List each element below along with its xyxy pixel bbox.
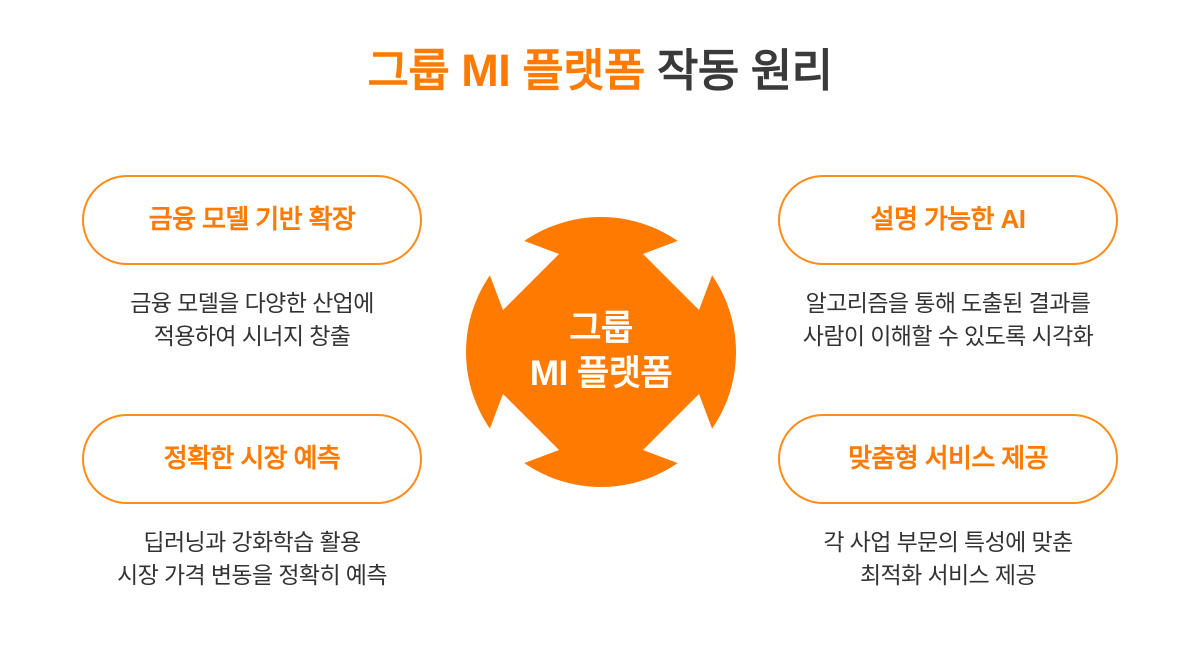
- quadrant-top-right: 설명 가능한 AI 알고리즘을 통해 도출된 결과를 사람이 이해할 수 있도록…: [778, 175, 1118, 354]
- description-bottom-right-line1: 각 사업 부문의 특성에 맞춘: [778, 526, 1118, 559]
- pill-badge-top-left[interactable]: 금융 모델 기반 확장: [82, 175, 422, 265]
- description-top-right: 알고리즘을 통해 도출된 결과를 사람이 이해할 수 있도록 시각화: [778, 287, 1118, 354]
- description-bottom-right: 각 사업 부문의 특성에 맞춘 최적화 서비스 제공: [778, 526, 1118, 593]
- description-top-left: 금융 모델을 다양한 산업에 적용하여 시너지 창출: [82, 287, 422, 354]
- description-bottom-left-line1: 딥러닝과 강화학습 활용: [82, 526, 422, 559]
- pill-label-top-right: 설명 가능한 AI: [871, 204, 1026, 235]
- description-top-right-line2: 사람이 이해할 수 있도록 시각화: [778, 320, 1118, 353]
- quadrant-bottom-right: 맞춤형 서비스 제공 각 사업 부문의 특성에 맞춘 최적화 서비스 제공: [778, 414, 1118, 593]
- quadrant-bottom-left: 정확한 시장 예측 딥러닝과 강화학습 활용 시장 가격 변동을 정확히 예측: [82, 414, 422, 593]
- pill-badge-top-right[interactable]: 설명 가능한 AI: [778, 175, 1118, 265]
- page-title-spacer: [645, 45, 657, 96]
- pill-label-top-left: 금융 모델 기반 확장: [149, 204, 355, 235]
- infographic-root: 그룹 MI 플랫폼 작동 원리 그룹 MI 플랫폼 금융 모델: [0, 0, 1200, 650]
- description-bottom-right-line2: 최적화 서비스 제공: [778, 559, 1118, 592]
- pill-label-bottom-left: 정확한 시장 예측: [164, 443, 341, 474]
- page-title-accent: 그룹 MI 플랫폼: [367, 45, 645, 96]
- description-top-right-line1: 알고리즘을 통해 도출된 결과를: [778, 287, 1118, 320]
- quadrant-top-left: 금융 모델 기반 확장 금융 모델을 다양한 산업에 적용하여 시너지 창출: [82, 175, 422, 354]
- description-bottom-left: 딥러닝과 강화학습 활용 시장 가격 변동을 정확히 예측: [82, 526, 422, 593]
- pill-badge-bottom-left[interactable]: 정확한 시장 예측: [82, 414, 422, 504]
- description-top-left-line1: 금융 모델을 다양한 산업에: [82, 287, 422, 320]
- pill-badge-bottom-right[interactable]: 맞춤형 서비스 제공: [778, 414, 1118, 504]
- center-emblem: 그룹 MI 플랫폼: [451, 202, 751, 502]
- page-title-plain: 작동 원리: [657, 45, 833, 96]
- page-title: 그룹 MI 플랫폼 작동 원리: [0, 44, 1200, 98]
- notched-circle-icon: [451, 202, 751, 502]
- description-top-left-line2: 적용하여 시너지 창출: [82, 320, 422, 353]
- description-bottom-left-line2: 시장 가격 변동을 정확히 예측: [82, 559, 422, 592]
- pill-label-bottom-right: 맞춤형 서비스 제공: [848, 443, 1048, 474]
